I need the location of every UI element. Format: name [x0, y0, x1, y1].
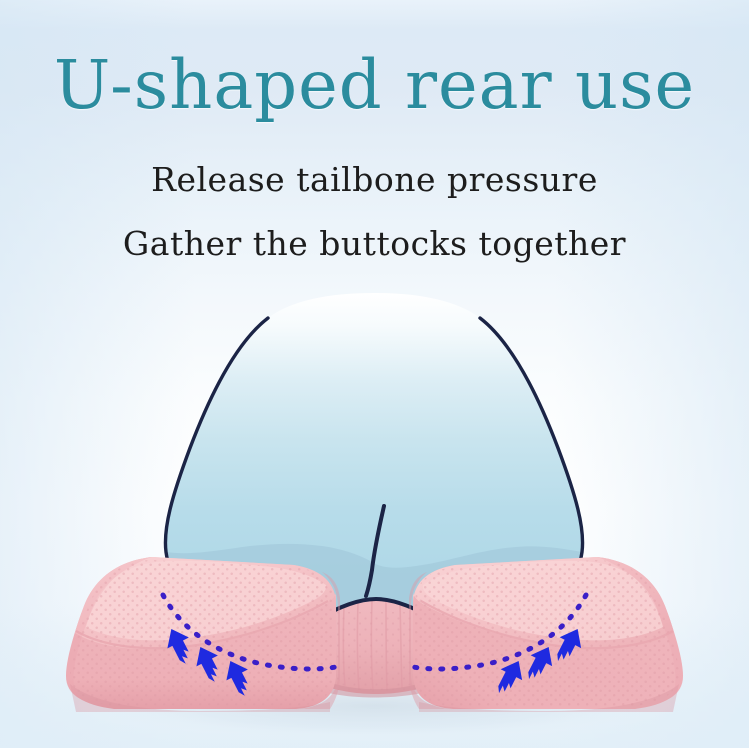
subtitle-line-1: Release tailbone pressure [0, 163, 749, 196]
cushion-right-lobe [400, 550, 690, 720]
infographic-canvas: U-shaped rear use Release tailbone press… [0, 0, 749, 748]
subtitle-line-2: Gather the buttocks together [0, 227, 749, 260]
cushion-left-lobe [60, 550, 350, 720]
page-title: U-shaped rear use [0, 52, 749, 119]
